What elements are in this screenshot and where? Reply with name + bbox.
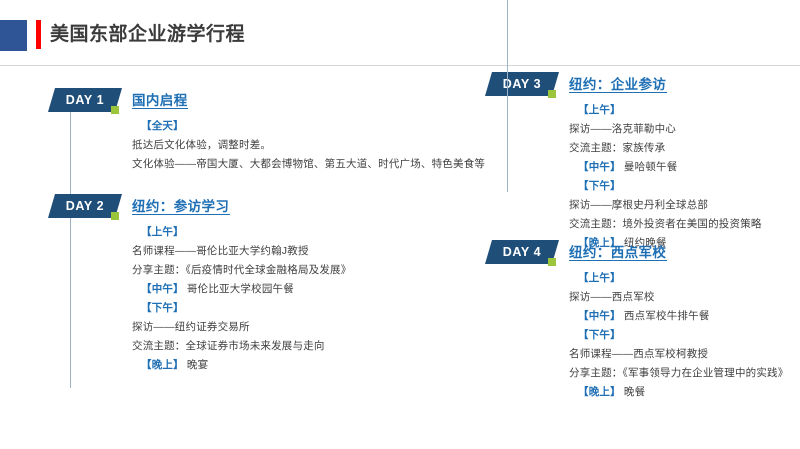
schedule-time-tag: 【下午】: [578, 329, 621, 341]
schedule-line: 【上午】: [569, 269, 788, 288]
schedule-line-text: 名师课程——西点军校柯教授: [569, 348, 708, 360]
day-schedule-list: 【上午】名师课程——哥伦比亚大学约翰J教授分享主题：《后疫情时代全球金融格局及发…: [132, 223, 351, 375]
badge-green-accent-icon: [548, 90, 556, 98]
schedule-line: 交流主题：全球证券市场未来发展与走向: [132, 337, 351, 356]
schedule-time-tag: 【上午】: [141, 226, 184, 238]
day-schedule-list: 【上午】探访——西点军校【中午】 西点军校牛排午餐【下午】名师课程——西点军校柯…: [569, 269, 788, 402]
schedule-line-text: 交流主题：全球证券市场未来发展与走向: [132, 340, 325, 352]
schedule-line-text: 晚餐: [621, 386, 646, 398]
schedule-line: 【下午】: [569, 326, 788, 345]
header-divider: [0, 65, 800, 66]
day-badge[interactable]: DAY 3: [485, 72, 559, 96]
schedule-line: 【下午】: [569, 177, 762, 196]
timeline-rail: [70, 218, 71, 388]
header-red-bar-icon: [36, 20, 41, 49]
schedule-line: 交流主题：家族传承: [569, 139, 762, 158]
day-title-underline: [569, 92, 667, 93]
schedule-line-text: 探访——纽约证券交易所: [132, 321, 250, 333]
schedule-line: 抵达后文化体验，调整时差。: [132, 136, 485, 155]
schedule-line: 分享主题：《军事领导力在企业管理中的实践》: [569, 364, 788, 383]
schedule-line: 【上午】: [132, 223, 351, 242]
schedule-line: 分享主题：《后疫情时代全球金融格局及发展》: [132, 261, 351, 280]
schedule-line-text: 交流主题：境外投资者在美国的投资策略: [569, 218, 762, 230]
schedule-time-tag: 【上午】: [578, 272, 621, 284]
schedule-line-text: 交流主题：家族传承: [569, 142, 665, 154]
schedule-time-tag: 【晚上】: [141, 359, 184, 371]
schedule-line: 【上午】: [569, 101, 762, 120]
schedule-line: 交流主题：境外投资者在美国的投资策略: [569, 215, 762, 234]
day-schedule-list: 【全天】抵达后文化体验，调整时差。文化体验——帝国大厦、大都会博物馆、第五大道、…: [132, 117, 485, 174]
day-schedule-list: 【上午】探访——洛克菲勒中心交流主题：家族传承【中午】 曼哈顿午餐【下午】探访—…: [569, 101, 762, 253]
schedule-line: 文化体验——帝国大厦、大都会博物馆、第五大道、时代广场、特色美食等: [132, 155, 485, 174]
schedule-line: 【下午】: [132, 299, 351, 318]
schedule-line: 【晚上】 晚餐: [569, 383, 788, 402]
day-title: 纽约：西点军校: [569, 241, 666, 261]
schedule-time-tag: 【中午】: [141, 283, 184, 295]
schedule-line: 名师课程——哥伦比亚大学约翰J教授: [132, 242, 351, 261]
slide-header: 美国东部企业游学行程: [0, 0, 800, 66]
schedule-line-text: 曼哈顿午餐: [621, 161, 678, 173]
timeline-rail: [507, 24, 508, 184]
timeline-rail: [70, 112, 71, 204]
schedule-time-tag: 【下午】: [141, 302, 184, 314]
schedule-line: 探访——洛克菲勒中心: [569, 120, 762, 139]
schedule-line-text: 文化体验——帝国大厦、大都会博物馆、第五大道、时代广场、特色美食等: [132, 158, 485, 170]
badge-green-accent-icon: [111, 212, 119, 220]
schedule-line: 名师课程——西点军校柯教授: [569, 345, 788, 364]
schedule-line: 【中午】 西点军校牛排午餐: [569, 307, 788, 326]
schedule-time-tag: 【全天】: [141, 120, 184, 132]
schedule-time-tag: 【晚上】: [578, 386, 621, 398]
day-title-underline: [132, 214, 230, 215]
day-title: 纽约：企业参访: [569, 73, 666, 93]
schedule-line: 【全天】: [132, 117, 485, 136]
schedule-line: 【晚上】 晚宴: [132, 356, 351, 375]
day-badge[interactable]: DAY 1: [48, 88, 122, 112]
schedule-line: 【中午】 哥伦比亚大学校园午餐: [132, 280, 351, 299]
schedule-time-tag: 【下午】: [578, 180, 621, 192]
schedule-line-text: 探访——摩根史丹利全球总部: [569, 199, 708, 211]
schedule-time-tag: 【中午】: [578, 310, 621, 322]
schedule-time-tag: 【中午】: [578, 161, 621, 173]
schedule-line-text: 探访——西点军校: [569, 291, 655, 303]
badge-green-accent-icon: [548, 258, 556, 266]
schedule-line-text: 哥伦比亚大学校园午餐: [184, 283, 294, 295]
schedule-line-text: 探访——洛克菲勒中心: [569, 123, 676, 135]
schedule-line-text: 名师课程——哥伦比亚大学约翰J教授: [132, 245, 309, 257]
schedule-line-text: 抵达后文化体验，调整时差。: [132, 139, 271, 151]
schedule-line: 【中午】 曼哈顿午餐: [569, 158, 762, 177]
schedule-line-text: 晚宴: [184, 359, 209, 371]
schedule-line-text: 分享主题：《后疫情时代全球金融格局及发展》: [132, 264, 351, 276]
day-title: 纽约：参访学习: [132, 195, 229, 215]
day-title: 国内启程: [132, 89, 188, 109]
day-title-underline: [132, 108, 188, 109]
schedule-time-tag: 【上午】: [578, 104, 621, 116]
day-title-underline: [569, 260, 667, 261]
page-title: 美国东部企业游学行程: [50, 20, 245, 49]
schedule-line: 探访——纽约证券交易所: [132, 318, 351, 337]
day-badge[interactable]: DAY 4: [485, 240, 559, 264]
badge-green-accent-icon: [111, 106, 119, 114]
schedule-line: 探访——西点军校: [569, 288, 788, 307]
schedule-line-text: 分享主题：《军事领导力在企业管理中的实践》: [569, 367, 788, 379]
day-badge[interactable]: DAY 2: [48, 194, 122, 218]
schedule-line-text: 西点军校牛排午餐: [621, 310, 710, 322]
schedule-line: 探访——摩根史丹利全球总部: [569, 196, 762, 215]
header-blue-block-icon: [0, 20, 27, 51]
